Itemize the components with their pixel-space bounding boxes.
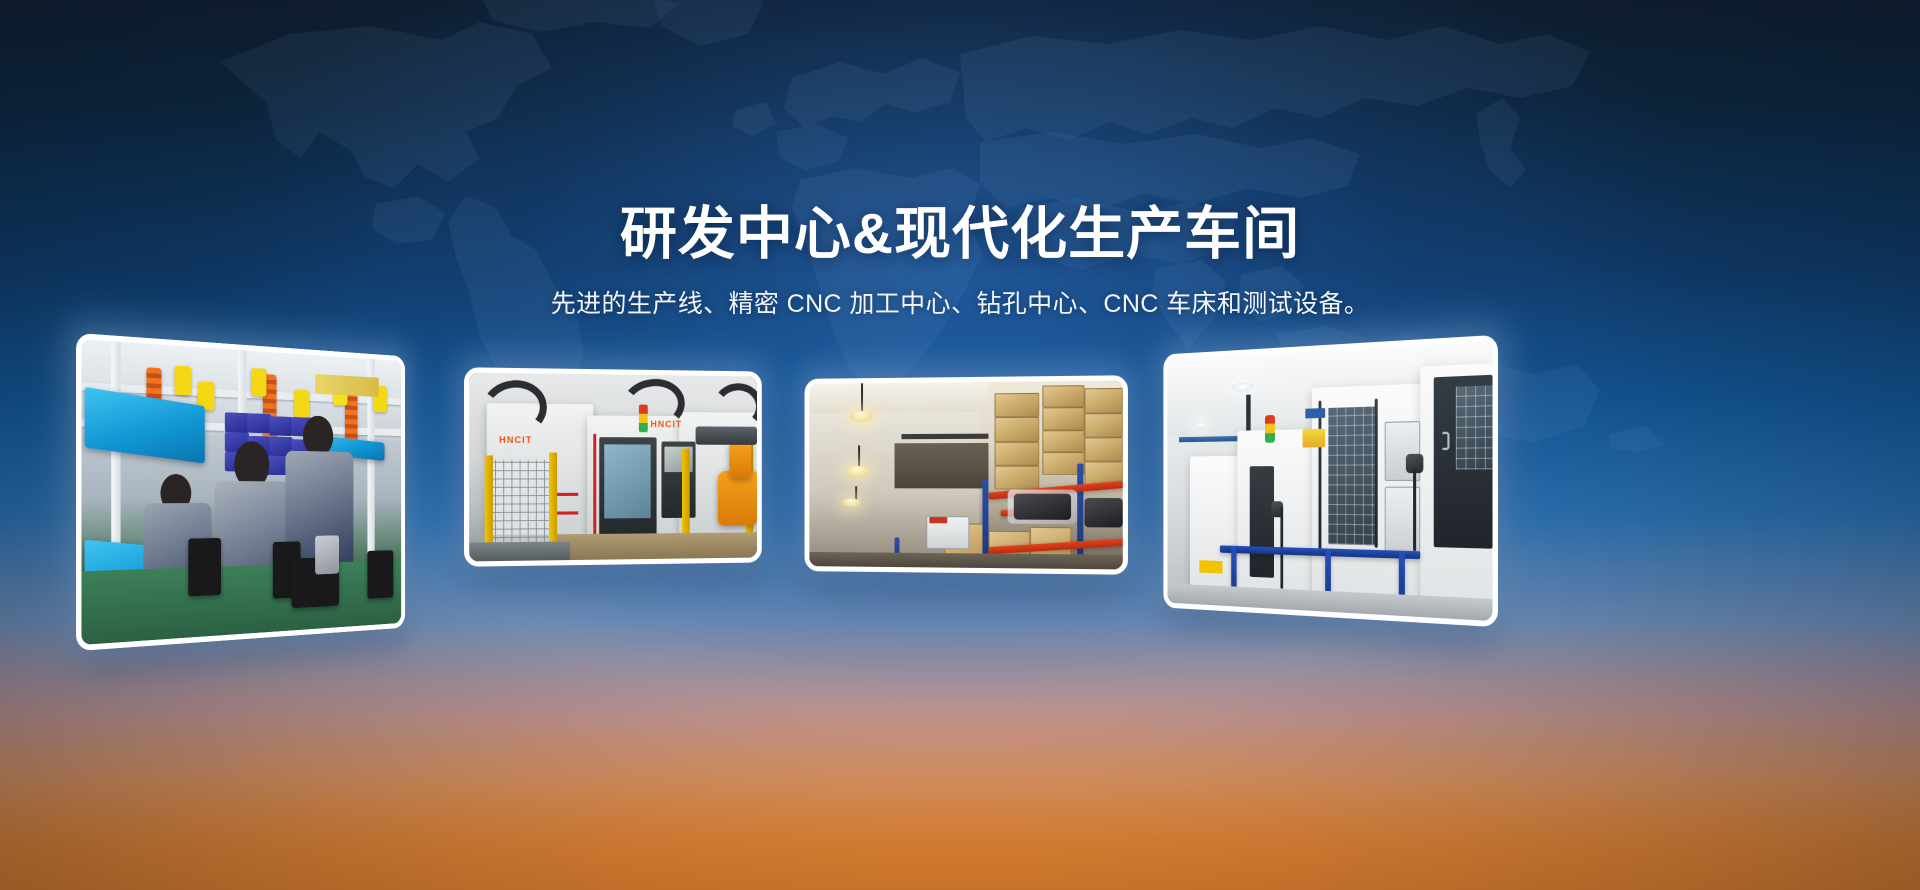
gallery-panel-assembly-line[interactable]	[76, 333, 405, 651]
page-subtitle: 先进的生产线、精密 CNC 加工中心、钻孔中心、CNC 车床和测试设备。	[0, 284, 1920, 320]
hero-banner: 研发中心&现代化生产车间 先进的生产线、精密 CNC 加工中心、钻孔中心、CNC…	[0, 0, 1920, 890]
machine-brand-label-right: HNCIT	[651, 419, 683, 429]
assembly-line-photo	[81, 339, 401, 645]
cnc-machining-center-photo: HNCIT HNCIT	[469, 373, 757, 562]
machine-brand-label-left: HNCIT	[499, 435, 532, 446]
gallery-panel-cnc-lathe-room[interactable]	[1163, 335, 1498, 628]
banner-headings: 研发中心&现代化生产车间 先进的生产线、精密 CNC 加工中心、钻孔中心、CNC…	[0, 203, 1920, 320]
page-title: 研发中心&现代化生产车间	[0, 203, 1920, 267]
warehouse-photo	[809, 381, 1122, 570]
status-light-tower	[639, 404, 648, 432]
gallery-panel-cnc-machining-center[interactable]: HNCIT HNCIT	[464, 367, 762, 567]
background-bottom-glow	[0, 620, 1920, 890]
cnc-lathe-room-photo	[1167, 341, 1492, 621]
gallery-panel-warehouse[interactable]	[805, 375, 1128, 575]
photo-gallery: HNCIT HNCIT	[0, 0, 1920, 890]
machine-status-light	[1265, 415, 1275, 443]
